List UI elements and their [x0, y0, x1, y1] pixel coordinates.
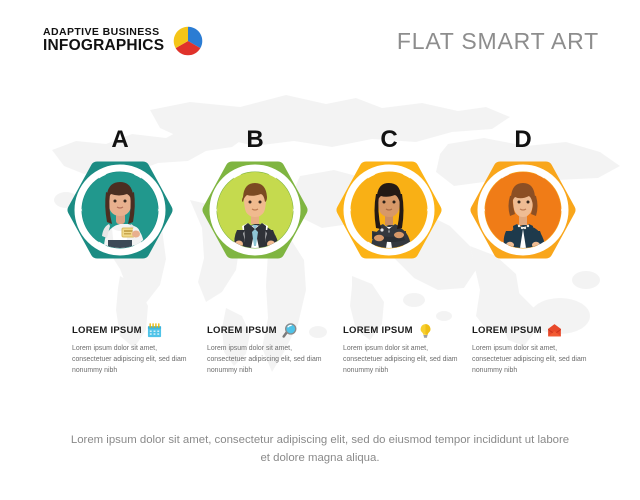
step-letter-c: C	[369, 126, 409, 154]
lightbulb-icon	[418, 323, 433, 338]
caption-body-b: Lorem ipsum dolor sit amet, consectetuer…	[207, 343, 329, 377]
caption-title-a: LOREM IPSUM	[72, 325, 142, 336]
avatar-businessman-dark-suit	[217, 172, 293, 248]
pie-circle-logo-icon	[173, 26, 203, 56]
infographic-slide: ADAPTIVE BUSINESS INFOGRAPHICS FLAT SMAR…	[0, 0, 640, 500]
magnifier-icon	[282, 323, 297, 338]
page-title: FLAT SMART ART	[397, 28, 599, 55]
caption-block-d: LOREM IPSUM Lorem ipsum dolor sit amet, …	[472, 322, 594, 377]
calendar-icon	[147, 323, 162, 338]
caption-head-c: LOREM IPSUM	[343, 322, 465, 339]
avatar-businesswoman-navy-suit	[485, 172, 561, 248]
step-letter-a: A	[100, 126, 140, 154]
avatar-businesswoman-white-coat	[82, 172, 158, 248]
step-letter-d: D	[503, 126, 543, 154]
envelope-icon	[547, 323, 562, 338]
caption-head-d: LOREM IPSUM	[472, 322, 594, 339]
step-letter-b: B	[235, 126, 275, 154]
brand-logo-line2: INFOGRAPHICS	[43, 38, 164, 55]
brand-logo-text: ADAPTIVE BUSINESS INFOGRAPHICS	[43, 27, 164, 55]
caption-body-c: Lorem ipsum dolor sit amet, consectetuer…	[343, 343, 465, 377]
caption-body-a: Lorem ipsum dolor sit amet, consectetuer…	[72, 343, 194, 377]
caption-block-c: LOREM IPSUM Lorem ipsum dolor sit amet, …	[343, 322, 465, 377]
footer-description: Lorem ipsum dolor sit amet, consectetur …	[70, 432, 570, 467]
caption-block-a: LOREM IPSUM Lorem ipsum dolor sit amet, …	[72, 322, 194, 377]
brand-logo: ADAPTIVE BUSINESS INFOGRAPHICS	[43, 26, 203, 56]
caption-title-d: LOREM IPSUM	[472, 325, 542, 336]
caption-block-b: LOREM IPSUM Lorem ipsum dolor sit amet, …	[207, 322, 329, 377]
avatar-businesswoman-arms-crossed	[351, 172, 427, 248]
caption-head-a: LOREM IPSUM	[72, 322, 194, 339]
caption-body-d: Lorem ipsum dolor sit amet, consectetuer…	[472, 343, 594, 377]
caption-title-b: LOREM IPSUM	[207, 325, 277, 336]
caption-head-b: LOREM IPSUM	[207, 322, 329, 339]
caption-title-c: LOREM IPSUM	[343, 325, 413, 336]
